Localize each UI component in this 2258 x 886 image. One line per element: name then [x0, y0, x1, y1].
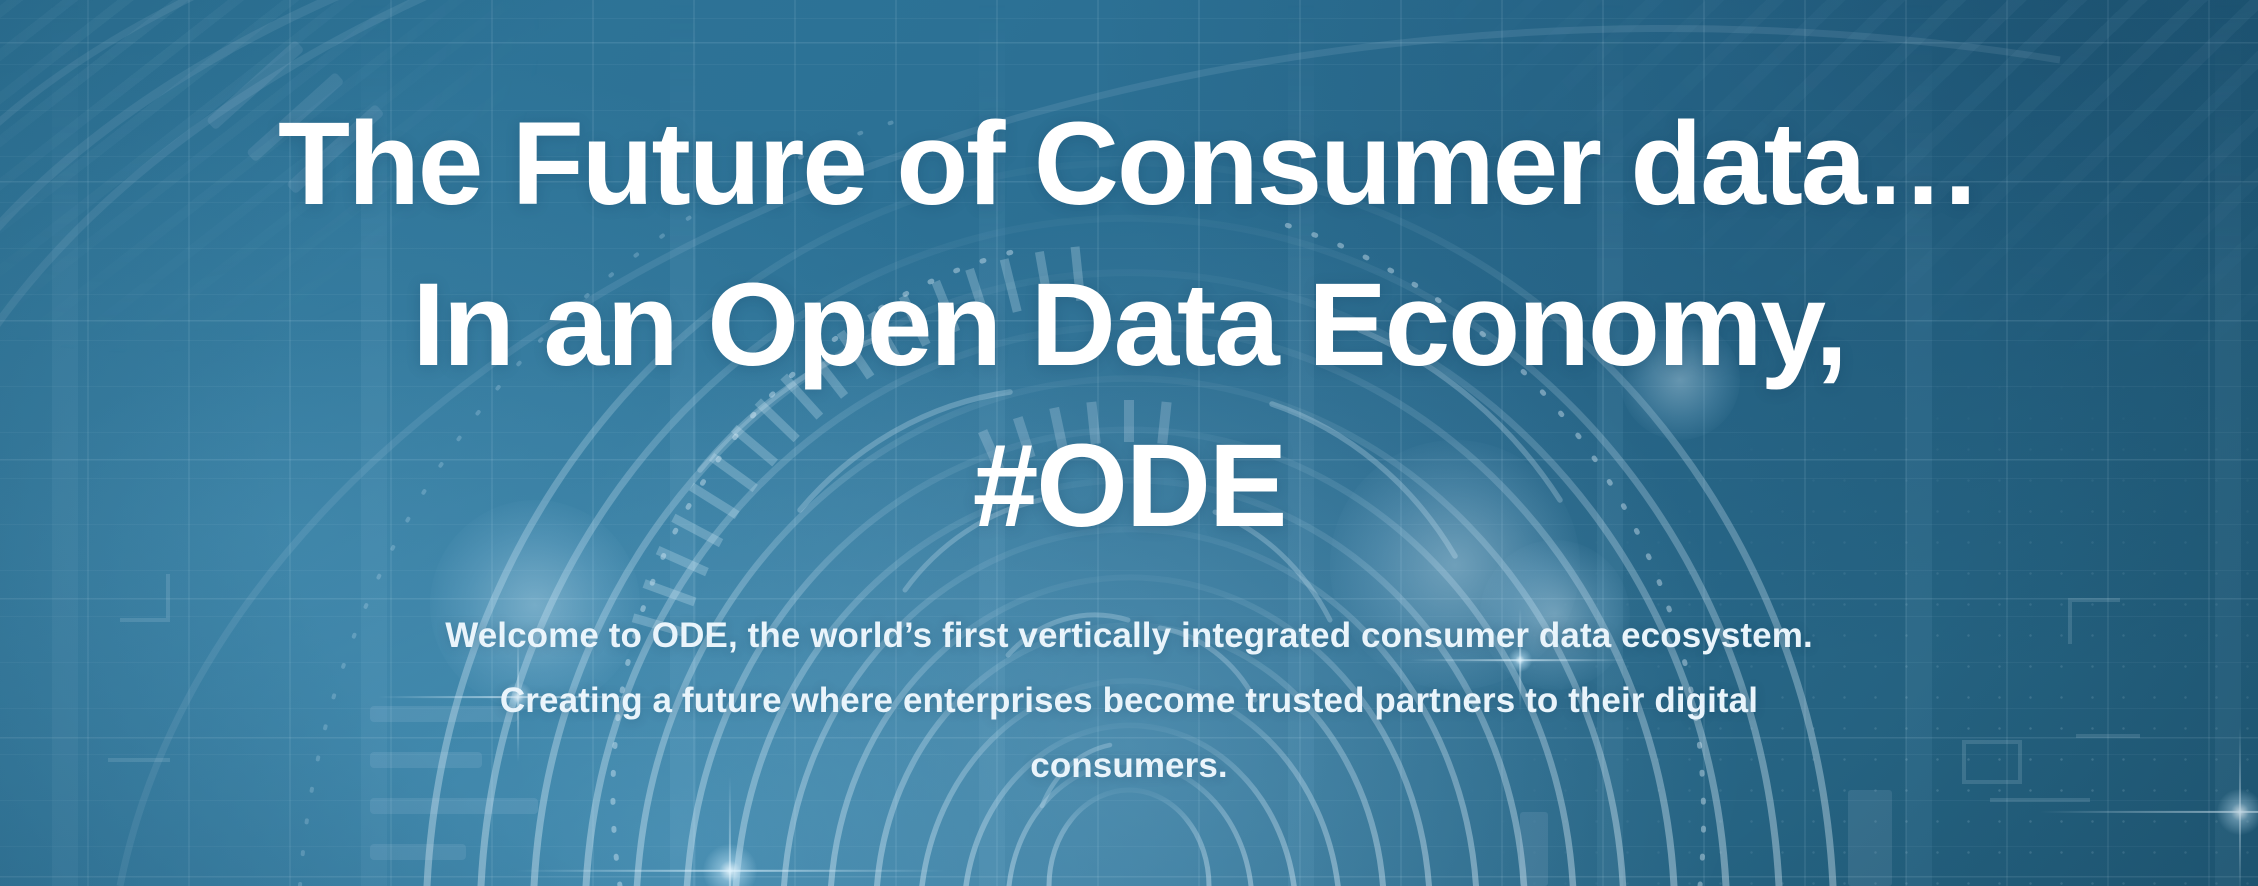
- headline-line-2: In an Open Data Economy,: [22, 245, 2236, 406]
- hero-subtitle: Welcome to ODE, the world’s first vertic…: [229, 603, 2029, 798]
- page-title: The Future of Consumer data… In an Open …: [22, 84, 2236, 567]
- hero-banner: The Future of Consumer data… In an Open …: [0, 0, 2258, 886]
- subtitle-line-3: consumers.: [229, 733, 2029, 798]
- headline-line-1: The Future of Consumer data…: [22, 84, 2236, 245]
- hero-content: The Future of Consumer data… In an Open …: [0, 0, 2258, 886]
- headline-line-3: #ODE: [22, 406, 2236, 567]
- subtitle-line-2: Creating a future where enterprises beco…: [229, 668, 2029, 733]
- subtitle-line-1: Welcome to ODE, the world’s first vertic…: [229, 603, 2029, 668]
